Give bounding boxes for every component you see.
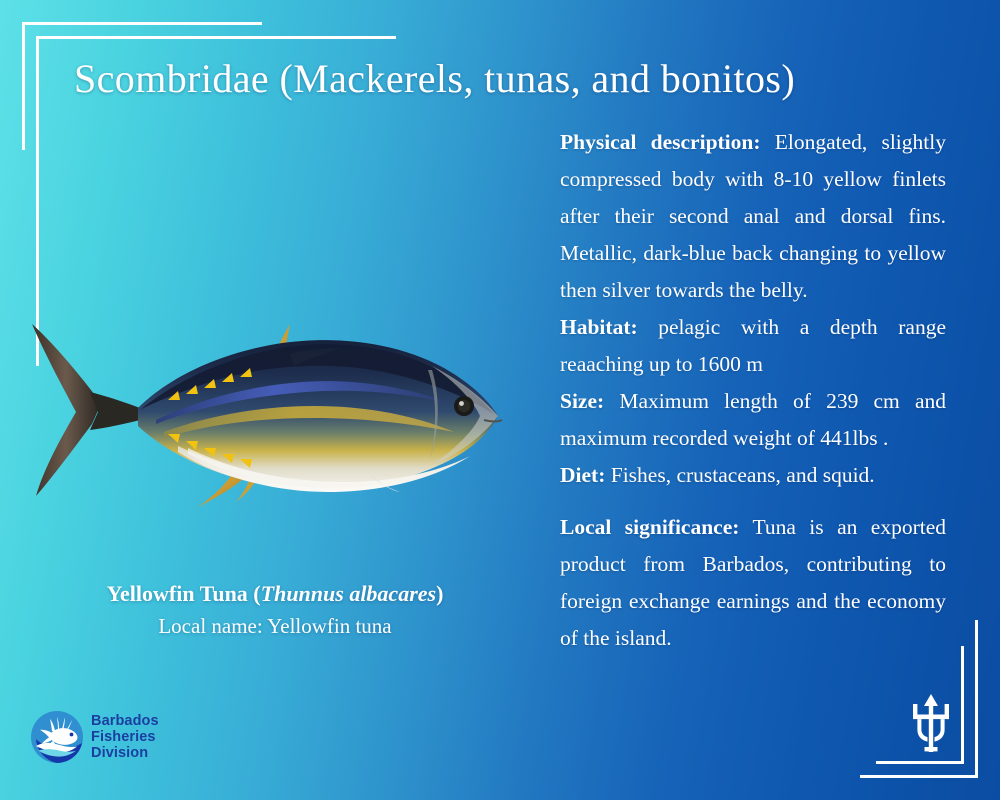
detail-size: Size: Maximum length of 239 cm and maxim…	[560, 383, 946, 457]
detail-spacer	[560, 494, 946, 509]
barbados-fisheries-division-logo: Barbados Fisheries Division	[30, 710, 159, 764]
detail-text: Elongated, slightly compressed body with…	[560, 130, 946, 302]
common-name-label: Yellowfin Tuna (Thunnus albacares)	[30, 580, 520, 609]
detail-habitat: Habitat: pelagic with a depth range reaa…	[560, 309, 946, 383]
fish-wave-logo-icon	[30, 710, 84, 764]
logo-line-3: Division	[91, 745, 159, 761]
detail-label: Size:	[560, 389, 604, 413]
page-title: Scombridae (Mackerels, tunas, and bonito…	[74, 56, 854, 102]
detail-local-significance: Local significance: Tuna is an exported …	[560, 509, 946, 657]
logo-line-2: Fisheries	[91, 729, 159, 745]
common-name-close-paren: )	[436, 581, 443, 606]
detail-label: Physical description:	[560, 130, 761, 154]
detail-label: Local significance:	[560, 515, 739, 539]
detail-diet: Diet: Fishes, crustaceans, and squid.	[560, 457, 946, 494]
detail-label: Habitat:	[560, 315, 638, 339]
logo-wordmark: Barbados Fisheries Division	[91, 713, 159, 762]
species-image	[28, 296, 518, 526]
species-details-panel: Physical description: Elongated, slightl…	[560, 124, 946, 657]
broken-trident-icon	[908, 692, 954, 754]
species-caption: Yellowfin Tuna (Thunnus albacares) Local…	[30, 580, 520, 641]
scientific-name-text: Thunnus albacares	[261, 581, 436, 606]
local-name-label: Local name: Yellowfin tuna	[30, 611, 520, 641]
species-info-card: Scombridae (Mackerels, tunas, and bonito…	[0, 0, 1000, 800]
detail-physical-description: Physical description: Elongated, slightl…	[560, 124, 946, 309]
detail-text: Maximum length of 239 cm and maximum rec…	[560, 389, 946, 450]
yellowfin-tuna-illustration	[28, 296, 518, 526]
detail-text: Fishes, crustaceans, and squid.	[605, 463, 874, 487]
detail-label: Diet:	[560, 463, 605, 487]
logo-line-1: Barbados	[91, 713, 159, 729]
common-name-text: Yellowfin Tuna (	[107, 581, 261, 606]
